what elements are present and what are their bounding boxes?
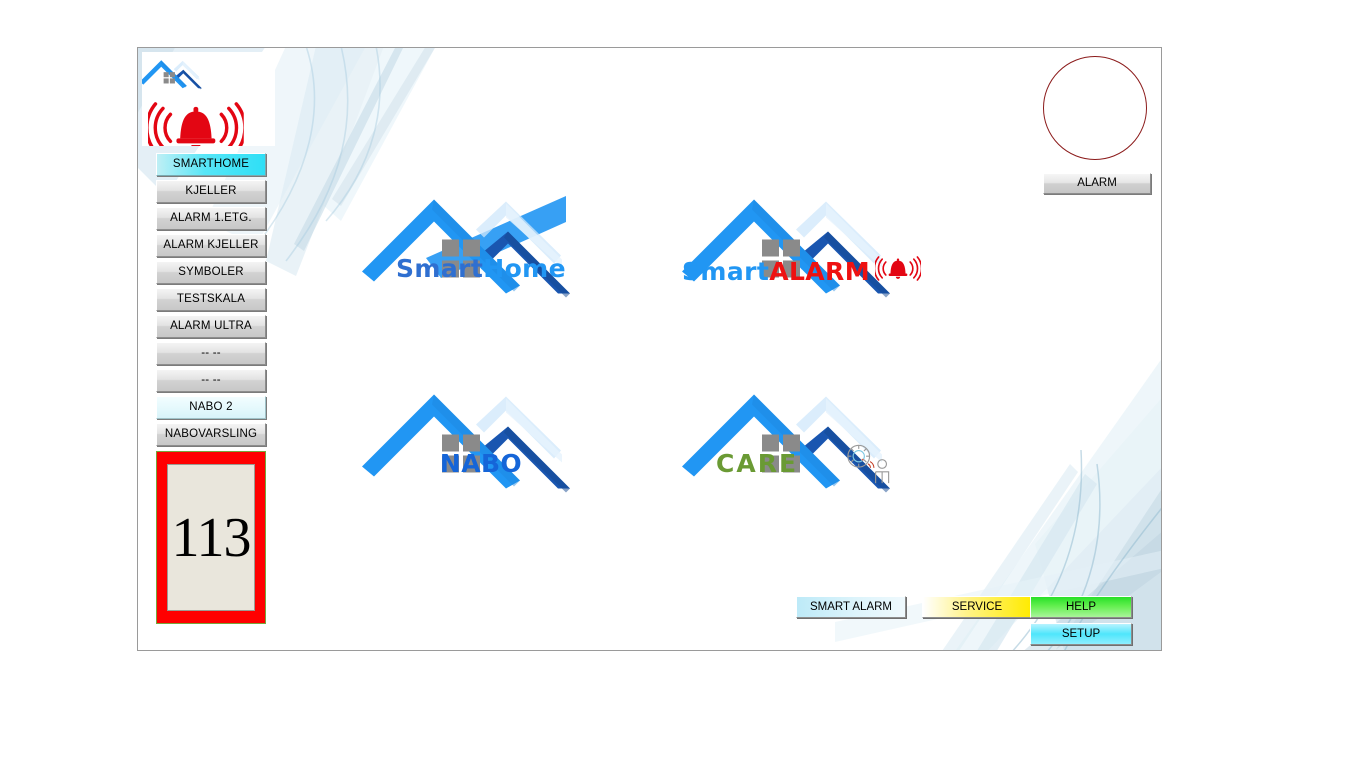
sidebar-item-kjeller[interactable]: KJELLER	[156, 180, 266, 203]
alarm-indicator-lamp	[1043, 56, 1147, 160]
tile-nabo-wordmark: NABO	[356, 449, 606, 478]
tile-care[interactable]: CARE	[676, 361, 926, 536]
tile-smarthome-wordmark: SmartHome	[356, 254, 606, 283]
house-alarm-logo-icon	[142, 52, 275, 146]
sidebar-item-nabo-2[interactable]: NABO 2	[156, 396, 266, 419]
sidebar-item-alarm-kjeller[interactable]: ALARM KJELLER	[156, 234, 266, 257]
wordmark-part-smart: Smart	[396, 254, 483, 283]
emergency-number-value: 113	[172, 510, 251, 566]
sidebar-item-nabovarsling[interactable]: NABOVARSLING	[156, 423, 266, 446]
emergency-value-panel: 113	[167, 464, 255, 611]
brand-logo	[142, 52, 275, 146]
wordmark-part-home: Home	[483, 254, 566, 283]
alarm-button[interactable]: ALARM	[1043, 173, 1151, 194]
sidebar-item-smarthome[interactable]: SMARTHOME	[156, 153, 266, 176]
tile-nabo[interactable]: NABO	[356, 361, 606, 536]
sidebar-nav: SMARTHOME KJELLER ALARM 1.ETG. ALARM KJE…	[156, 153, 266, 450]
tile-smartalarm-wordmark: SmartALARM	[676, 254, 926, 289]
sidebar-item-empty-2[interactable]: -- --	[156, 369, 266, 392]
bell-alarm-icon	[875, 254, 921, 289]
setup-button[interactable]: SETUP	[1030, 623, 1132, 645]
application-window: SMARTHOME KJELLER ALARM 1.ETG. ALARM KJE…	[137, 47, 1162, 651]
sidebar-item-symboler[interactable]: SYMBOLER	[156, 261, 266, 284]
wordmark-part-smart: Smart	[682, 257, 769, 286]
tile-smarthome[interactable]: SmartHome	[356, 166, 606, 341]
sidebar-item-empty-1[interactable]: -- --	[156, 342, 266, 365]
product-grid: SmartHome SmartALARM NABO	[336, 166, 946, 546]
sidebar-item-alarm-1etg[interactable]: ALARM 1.ETG.	[156, 207, 266, 230]
wordmark-part-nabo: NABO	[440, 449, 522, 478]
wordmark-part-alarm: ALARM	[769, 257, 870, 286]
emergency-number-display: 113	[156, 451, 266, 624]
wordmark-part-care: CARE	[716, 449, 798, 478]
sidebar-item-testskala[interactable]: TESTSKALA	[156, 288, 266, 311]
tile-smartalarm[interactable]: SmartALARM	[676, 166, 926, 341]
help-button[interactable]: HELP	[1030, 596, 1132, 618]
motion-sensor-person-icon	[844, 443, 896, 490]
service-button[interactable]: SERVICE	[922, 596, 1032, 618]
smart-alarm-button[interactable]: SMART ALARM	[796, 596, 906, 618]
sidebar-item-alarm-ultra[interactable]: ALARM ULTRA	[156, 315, 266, 338]
